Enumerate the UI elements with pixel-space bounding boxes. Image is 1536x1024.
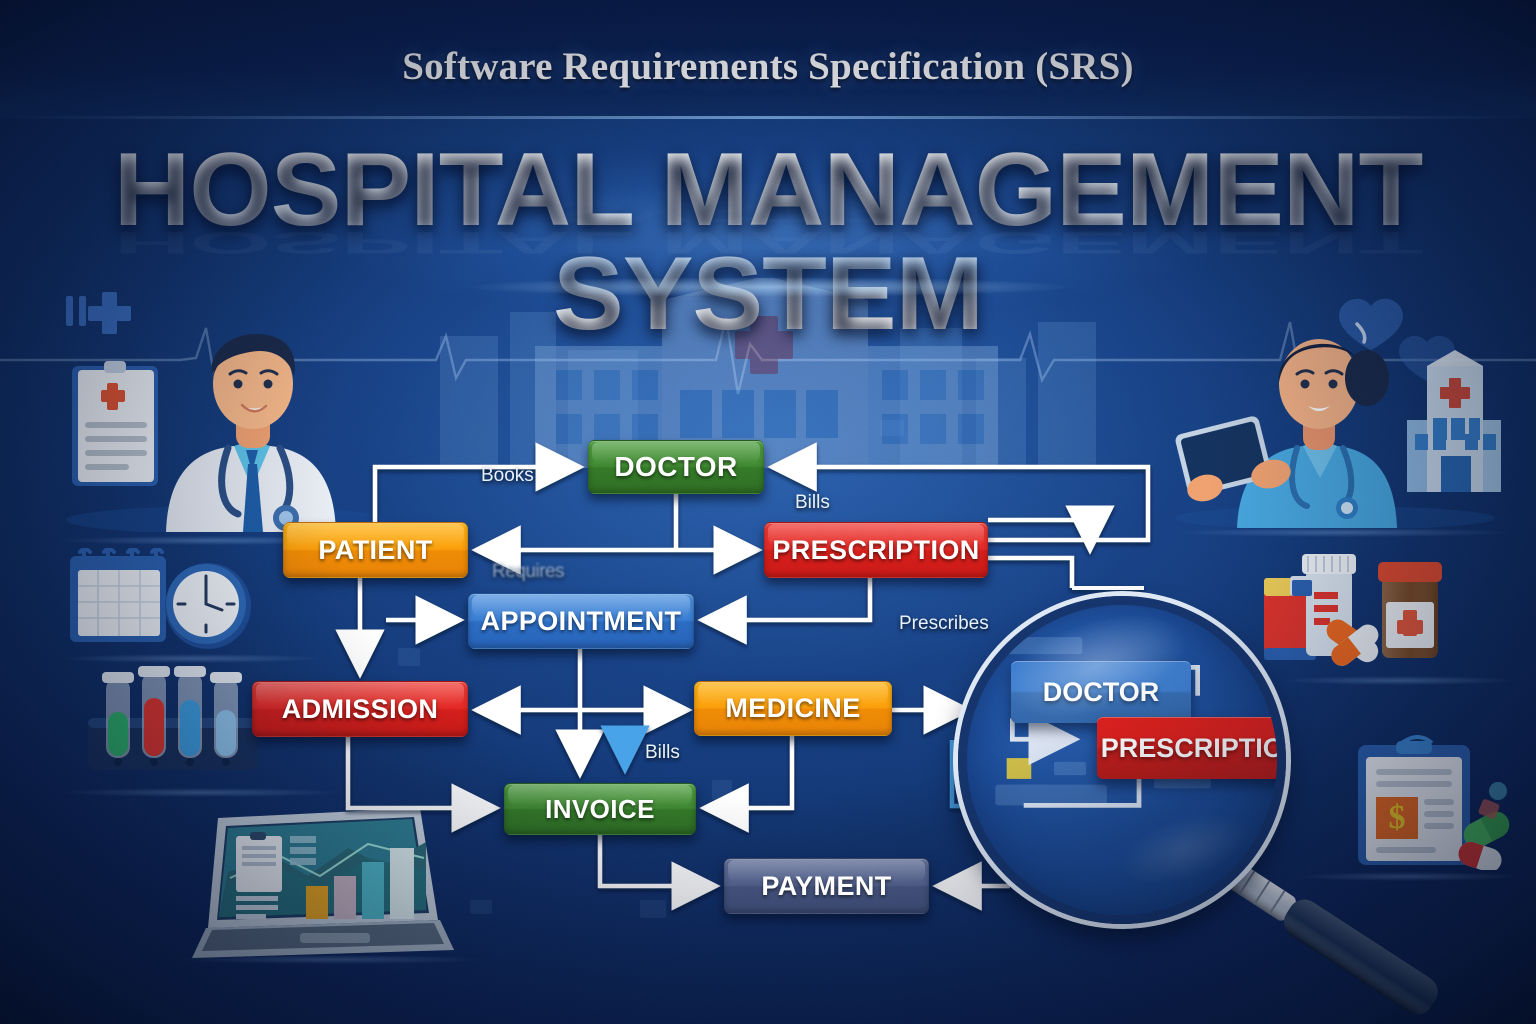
node-label: ADMISSION	[282, 694, 439, 725]
magnifier-node-label: PRESCRIPTION	[1101, 733, 1286, 764]
node-label: MEDICINE	[725, 693, 860, 724]
node-patient[interactable]: PATIENT	[283, 522, 468, 578]
edge-label-requires: Requires	[492, 561, 564, 583]
magnifier-node-label: DOCTOR	[1043, 677, 1160, 708]
node-label: PAYMENT	[761, 871, 891, 902]
poster-canvas: Software Requirements Specification (SRS…	[0, 0, 1536, 1024]
magnifying-glass[interactable]: DOCTORPRESCRIPTION	[958, 596, 1518, 996]
magnifier-lens: DOCTORPRESCRIPTION	[958, 596, 1286, 924]
node-label: PATIENT	[318, 535, 432, 566]
edge-label-bills-mid: Bills	[645, 742, 680, 764]
node-label: APPOINTMENT	[481, 606, 682, 637]
node-label: DOCTOR	[614, 451, 737, 483]
node-invoice[interactable]: INVOICE	[504, 783, 696, 835]
edge-label-books: Books	[481, 465, 534, 487]
mag-doctor[interactable]: DOCTOR	[1011, 661, 1191, 723]
node-label: PRESCRIPTION	[772, 535, 979, 566]
edge-label-bills-top: Bills	[795, 492, 830, 514]
node-appointment[interactable]: APPOINTMENT	[468, 593, 694, 649]
mag-prescription[interactable]: PRESCRIPTION	[1097, 717, 1286, 779]
node-admission[interactable]: ADMISSION	[252, 681, 468, 737]
node-label: INVOICE	[545, 794, 655, 825]
node-medicine[interactable]: MEDICINE	[694, 681, 892, 736]
node-payment[interactable]: PAYMENT	[724, 858, 929, 914]
node-doctor[interactable]: DOCTOR	[588, 440, 764, 494]
node-prescription[interactable]: PRESCRIPTION	[764, 522, 988, 578]
